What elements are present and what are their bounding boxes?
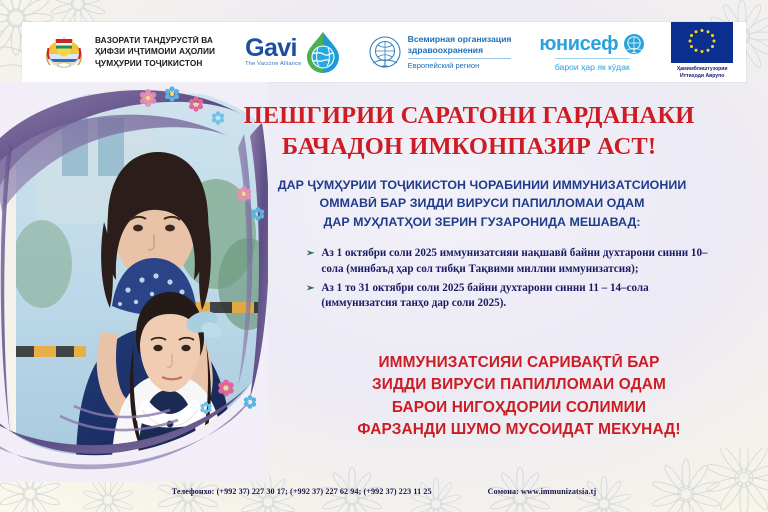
cta-line-2: ЗИДДИ ВИРУСИ ПАПИЛЛОМАИ ОДАМ	[288, 374, 750, 396]
unicef-wordmark: юнисеф	[539, 34, 618, 54]
intro-line-1: ДАР ҶУМҲУРИИ ТОҶИКИСТОН ЧОРАБИНИИ ИММУНИ…	[232, 176, 732, 194]
moh-line-1: ВАЗОРАТИ ТАНДУРУСТӢ ВА	[95, 35, 215, 46]
unicef-logo: юнисеф барои ҳар як кӯдак	[539, 22, 645, 82]
who-line-2: здравоохранения	[408, 45, 512, 56]
call-to-action-block: ИММУНИЗАТСИЯИ САРИВАҚТӢ БАР ЗИДДИ ВИРУСИ…	[288, 352, 750, 442]
intro-line-2: ОММАВӢ БАР ЗИДДИ ВИРУСИ ПАПИЛЛОМАИ ОДАМ	[232, 194, 732, 212]
bullet-marker-icon: ➢	[306, 246, 314, 278]
european-union-caption: Ҳамимблиштузории Иттиҳоди Аврупо	[677, 66, 728, 80]
cta-line-4: ФАРЗАНДИ ШУМО МУСОИДАТ МЕКУНАД!	[288, 419, 750, 441]
who-emblem-icon	[368, 35, 402, 69]
unicef-tagline: барои ҳар як кӯдак	[555, 58, 630, 72]
footer-phones: Телефонхо: (+992 37) 227 30 17; (+992 37…	[172, 487, 432, 496]
intro-line-3: ДАР МУҲЛАТҲОИ ЗЕРИН ГУЗАРОНИДА МЕШАВАД:	[232, 213, 732, 231]
gavi-wordmark: Gavi	[245, 37, 302, 61]
ministry-of-health-logo: ВАЗОРАТИ ТАНДУРУСТӢ ВА ҲИФЗИ ИҶТИМОИИ АҲ…	[22, 22, 215, 82]
cta-line-1: ИММУНИЗАТСИЯИ САРИВАҚТӢ БАР	[288, 352, 750, 374]
gavi-logo: Gavi The Vaccine Alliance	[245, 22, 342, 82]
footer-website[interactable]: Сомона: www.immunizatsia.tj	[488, 487, 597, 496]
list-item-text: Аз 1 то 31 октябри соли 2025 байни духта…	[321, 281, 726, 313]
moh-line-3: ҶУМҲУРИИ ТОҶИКИСТОН	[95, 58, 215, 69]
cta-line-3: БАРОИ НИГОҲДОРИИ СОЛИМИИ	[288, 397, 750, 419]
list-item: ➢ Аз 1 октябри соли 2025 иммунизатсияи н…	[306, 246, 726, 278]
gavi-globe-droplet-icon	[304, 31, 342, 73]
schedule-list: ➢ Аз 1 октябри соли 2025 иммунизатсияи н…	[306, 246, 726, 315]
who-region: Европейский регион	[408, 58, 512, 70]
poster-headline: ПЕШГИРИИ САРАТОНИ ГАРДАНАКИ БАЧАДОН ИМКО…	[186, 100, 752, 162]
european-union-flag-icon	[671, 22, 733, 63]
list-item-text: Аз 1 октябри соли 2025 иммунизатсияи нақ…	[321, 246, 726, 278]
who-logo: Всемирная организация здравоохранения Ев…	[368, 22, 512, 82]
bullet-marker-icon: ➢	[306, 281, 314, 313]
moh-line-2: ҲИФЗИ ИҶТИМОИИ АҲОЛИИ	[95, 46, 215, 57]
list-item: ➢ Аз 1 то 31 октябри соли 2025 байни дух…	[306, 281, 726, 313]
european-union-logo: Ҳамимблиштузории Иттиҳоди Аврупо	[671, 22, 733, 82]
contact-footer: Телефонхо: (+992 37) 227 30 17; (+992 37…	[0, 487, 768, 496]
tajikistan-state-emblem-icon	[42, 30, 86, 74]
unicef-emblem-icon	[623, 33, 645, 55]
headline-line-1: ПЕШГИРИИ САРАТОНИ ГАРДАНАКИ	[186, 100, 752, 131]
eu-caption-line-1: Ҳамимблиштузории	[677, 66, 728, 73]
ministry-of-health-text: ВАЗОРАТИ ТАНДУРУСТӢ ВА ҲИФЗИ ИҶТИМОИИ АҲ…	[95, 35, 215, 69]
logo-header-bar: ВАЗОРАТИ ТАНДУРУСТӢ ВА ҲИФЗИ ИҶТИМОИИ АҲ…	[22, 22, 746, 82]
headline-line-2: БАЧАДОН ИМКОНПАЗИР АСТ!	[186, 131, 752, 162]
eu-caption-line-2: Иттиҳоди Аврупо	[677, 73, 728, 80]
gavi-tagline: The Vaccine Alliance	[245, 61, 302, 67]
who-line-1: Всемирная организация	[408, 34, 512, 45]
intro-paragraph: ДАР ҶУМҲУРИИ ТОҶИКИСТОН ЧОРАБИНИИ ИММУНИ…	[232, 176, 732, 231]
poster-root: ВАЗОРАТИ ТАНДУРУСТӢ ВА ҲИФЗИ ИҶТИМОИИ АҲ…	[0, 0, 768, 512]
